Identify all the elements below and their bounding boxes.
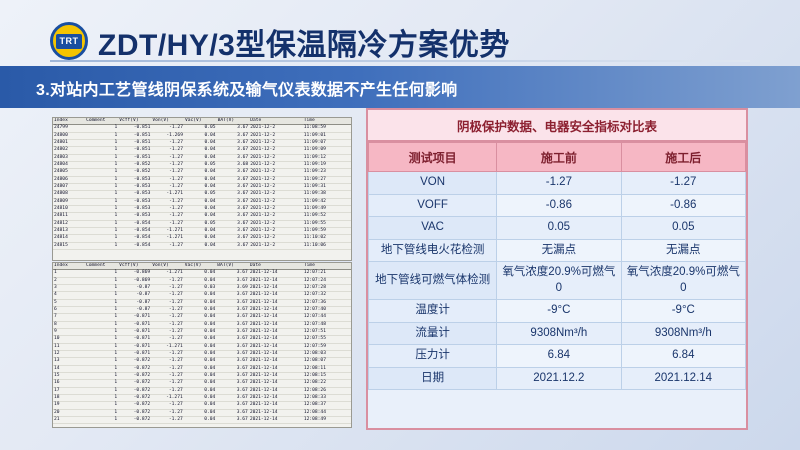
table-row: 81-0.871-1.270.043.672021-12-1412:07:48 bbox=[53, 321, 351, 328]
log-cell: -1.27 bbox=[151, 387, 184, 394]
log-cell: 12:07:24 bbox=[303, 277, 351, 284]
log-cell: 0.04 bbox=[184, 380, 217, 387]
log-cell: -1.27 bbox=[151, 292, 184, 299]
log-cell: 3.67 bbox=[216, 387, 249, 394]
log-column-header: Time bbox=[303, 118, 351, 125]
log-cell: 0.05 bbox=[184, 220, 217, 227]
log-cell: -0.871 bbox=[118, 328, 151, 335]
log-cell: 12:07:59 bbox=[303, 343, 351, 350]
log-table-head: IndexCommentVcff(V)Von(V)Vac(V)BAT(V)Dat… bbox=[53, 118, 351, 125]
log-cell: 0.04 bbox=[184, 387, 217, 394]
table-row: 248151-0.854-1.270.043.672021-12-211:10:… bbox=[53, 242, 351, 249]
log-cell: 1 bbox=[85, 227, 118, 234]
log-cell: 2021-12-14 bbox=[249, 394, 303, 401]
log-cell: 2021-12-14 bbox=[249, 299, 303, 306]
log-cell: 0.05 bbox=[184, 161, 217, 168]
log-column-header: Vcff(V) bbox=[118, 263, 151, 270]
log-cell: 0.04 bbox=[184, 132, 217, 139]
log-cell: -1.271 bbox=[151, 191, 184, 198]
log-cell: 11:09:07 bbox=[303, 139, 351, 146]
comparison-panel: 阴极保护数据、电器安全指标对比表 测试项目施工前施工后 VON-1.27-1.2… bbox=[366, 108, 748, 430]
log-cell: 0.04 bbox=[184, 372, 217, 379]
table-row: 31-0.87-1.270.033.692021-12-1412:07:28 bbox=[53, 284, 351, 291]
log-cell: 0.04 bbox=[184, 328, 217, 335]
log-cell: -0.872 bbox=[118, 358, 151, 365]
log-cell: 11:09:42 bbox=[303, 198, 351, 205]
log-cell: 2021-12-14 bbox=[249, 306, 303, 313]
log-cell: 12:08:07 bbox=[303, 358, 351, 365]
log-cell: 1 bbox=[85, 132, 118, 139]
log-cell: -0.851 bbox=[118, 125, 151, 132]
log-cell: 11:09:19 bbox=[303, 161, 351, 168]
log-table-head: IndexCommentVcff(V)Von(V)Vac(V)BAT(V)Dat… bbox=[53, 263, 351, 270]
log-cell: 0.04 bbox=[184, 213, 217, 220]
log-cell: -0.869 bbox=[118, 277, 151, 284]
log-cell: -1.27 bbox=[151, 220, 184, 227]
log-cell: 1 bbox=[85, 125, 118, 132]
log-column-header: BAT(V) bbox=[217, 118, 250, 125]
log-cell: 3.67 bbox=[217, 139, 250, 146]
table-row: 11-0.869-1.2710.043.672021-12-1412:07:21 bbox=[53, 270, 351, 277]
log-cell: 12:08:26 bbox=[303, 387, 351, 394]
log-cell: 1 bbox=[85, 416, 118, 423]
log-cell: 12:08:11 bbox=[303, 365, 351, 372]
log-cell: 11:10:02 bbox=[303, 235, 351, 242]
log-cell: 3.67 bbox=[217, 147, 250, 154]
log-cell: 12:08:44 bbox=[303, 409, 351, 416]
log-cell: 2021-12-2 bbox=[249, 242, 303, 249]
log-cell: -0.854 bbox=[118, 235, 151, 242]
log-cell: -1.27 bbox=[151, 299, 184, 306]
log-cell: 2021-12-14 bbox=[249, 328, 303, 335]
log-cell: -0.852 bbox=[118, 169, 151, 176]
table-row: 171-0.872-1.270.043.672021-12-1412:08:26 bbox=[53, 387, 351, 394]
log-cell: 1 bbox=[85, 169, 118, 176]
table-row: 41-0.87-1.270.043.672021-12-1412:07:32 bbox=[53, 292, 351, 299]
comparison-title: 阴极保护数据、电器安全指标对比表 bbox=[368, 110, 746, 142]
comparison-body: VON-1.27-1.27VOFF-0.86-0.86VAC0.050.05地下… bbox=[369, 172, 746, 390]
comparison-row-label: 地下管线电火花检测 bbox=[369, 239, 497, 262]
log-cell: 3.67 bbox=[217, 191, 250, 198]
log-cell: 2021-12-14 bbox=[249, 409, 303, 416]
log-cell: -0.872 bbox=[118, 380, 151, 387]
log-cell: -0.852 bbox=[118, 161, 151, 168]
log-table-body: 11-0.869-1.2710.043.672021-12-1412:07:21… bbox=[53, 270, 351, 424]
comparison-value-cell: -9°C bbox=[621, 300, 745, 323]
log-cell: -1.27 bbox=[151, 358, 184, 365]
comparison-row-label: VOFF bbox=[369, 194, 497, 217]
log-cell: -1.271 bbox=[151, 235, 184, 242]
log-cell: -0.872 bbox=[118, 387, 151, 394]
log-cell: 2021-12-14 bbox=[249, 321, 303, 328]
log-cell: -0.851 bbox=[118, 147, 151, 154]
log-cell: 3.67 bbox=[216, 372, 249, 379]
comparison-column-header: 施工前 bbox=[497, 143, 621, 172]
log-cell: 3.68 bbox=[217, 161, 250, 168]
log-cell: -0.872 bbox=[118, 402, 151, 409]
log-cell: 3.67 bbox=[216, 365, 249, 372]
log-cell: 1 bbox=[85, 183, 118, 190]
log-cell: 17 bbox=[53, 387, 85, 394]
log-cell: -1.27 bbox=[151, 183, 184, 190]
log-cell: 2021-12-14 bbox=[249, 372, 303, 379]
comparison-value-cell: 0.05 bbox=[621, 217, 745, 240]
log-cell: 18 bbox=[53, 394, 85, 401]
log-cell: 3.67 bbox=[217, 205, 250, 212]
log-cell: 12 bbox=[53, 350, 85, 357]
log-cell: 1 bbox=[85, 292, 118, 299]
log-cell: 3.67 bbox=[216, 416, 249, 423]
log-cell: 0.03 bbox=[184, 284, 217, 291]
log-cell: -1.27 bbox=[151, 365, 184, 372]
log-cell: 2021-12-14 bbox=[249, 365, 303, 372]
log-cell: 2021-12-2 bbox=[249, 154, 303, 161]
log-cell: 3.67 bbox=[216, 321, 249, 328]
log-cell: 1 bbox=[85, 306, 118, 313]
log-cell: 3.67 bbox=[216, 299, 249, 306]
comparison-value-cell: -0.86 bbox=[621, 194, 745, 217]
log-cell: -0.871 bbox=[118, 343, 151, 350]
comparison-head: 测试项目施工前施工后 bbox=[369, 143, 746, 172]
comparison-value-cell: 2021.12.2 bbox=[497, 367, 621, 390]
table-row: 161-0.872-1.270.043.672021-12-1412:08:22 bbox=[53, 380, 351, 387]
log-cell: 2021-12-2 bbox=[249, 147, 303, 154]
comparison-row-label: 地下管线可燃气体检测 bbox=[369, 262, 497, 300]
comparison-row-label: VON bbox=[369, 172, 497, 195]
table-row: 248121-0.854-1.270.053.672021-12-211:09:… bbox=[53, 220, 351, 227]
log-cell: 2021-12-2 bbox=[249, 139, 303, 146]
log-cell: 12:08:37 bbox=[303, 402, 351, 409]
log-cell: -0.872 bbox=[118, 409, 151, 416]
log-cell: 11:10:06 bbox=[303, 242, 351, 249]
log-cell: 1 bbox=[85, 242, 118, 249]
log-cell: 1 bbox=[85, 358, 118, 365]
log-cell: -1.27 bbox=[151, 161, 184, 168]
log-table-body: 247991-0.851-1.270.053.672021-12-211:08:… bbox=[53, 125, 351, 250]
log-cell: 6 bbox=[53, 306, 85, 313]
log-cell: -1.271 bbox=[151, 227, 184, 234]
log-cell: -0.87 bbox=[118, 306, 151, 313]
log-table: IndexCommentVcff(V)Von(V)Vac(V)BAT(V)Dat… bbox=[53, 118, 351, 250]
log-cell: 0.04 bbox=[184, 176, 217, 183]
log-cell: 3.67 bbox=[216, 314, 249, 321]
table-row: 流量计9308Nm³/h9308Nm³/h bbox=[369, 322, 746, 345]
log-cell: 1 bbox=[85, 270, 118, 277]
comparison-value-cell: 无漏点 bbox=[621, 239, 745, 262]
data-table-top: IndexCommentVcff(V)Von(V)Vac(V)BAT(V)Dat… bbox=[52, 117, 352, 261]
page-title: ZDT/HY/3型保温隔冷方案优势 bbox=[98, 20, 510, 64]
log-cell: 11:09:38 bbox=[303, 191, 351, 198]
log-cell: -1.27 bbox=[151, 147, 184, 154]
log-cell: 10 bbox=[53, 336, 85, 343]
log-cell: 3.67 bbox=[217, 220, 250, 227]
log-cell: 0.04 bbox=[184, 154, 217, 161]
log-cell: 2021-12-2 bbox=[249, 132, 303, 139]
log-cell: 3.67 bbox=[216, 306, 249, 313]
log-cell: 2021-12-14 bbox=[249, 292, 303, 299]
log-cell: 0.04 bbox=[184, 358, 217, 365]
comparison-header-row: 测试项目施工前施工后 bbox=[369, 143, 746, 172]
table-row: 地下管线可燃气体检测氧气浓度20.9%可燃气0氧气浓度20.9%可燃气0 bbox=[369, 262, 746, 300]
log-cell: 3 bbox=[53, 284, 85, 291]
logo-text: TRT bbox=[56, 34, 82, 49]
log-cell: 12:08:49 bbox=[303, 416, 351, 423]
log-cell: 0.04 bbox=[184, 235, 217, 242]
table-row: 247991-0.851-1.270.053.672021-12-211:08:… bbox=[53, 125, 351, 132]
log-cell: 0.04 bbox=[184, 227, 217, 234]
log-cell: -0.871 bbox=[118, 336, 151, 343]
log-cell: 11:09:01 bbox=[303, 132, 351, 139]
log-column-header: BAT(V) bbox=[216, 263, 249, 270]
table-row: 248131-0.854-1.2710.043.672021-12-211:09… bbox=[53, 227, 351, 234]
log-cell: -1.271 bbox=[151, 270, 184, 277]
table-row: 71-0.871-1.270.043.672021-12-1412:07:44 bbox=[53, 314, 351, 321]
log-cell: 0.04 bbox=[184, 409, 217, 416]
log-cell: 12:07:48 bbox=[303, 321, 351, 328]
log-column-header: Vcff(V) bbox=[118, 118, 151, 125]
log-cell: -1.27 bbox=[151, 402, 184, 409]
log-cell: 1 bbox=[85, 147, 118, 154]
log-cell: 0.04 bbox=[184, 270, 217, 277]
log-cell: -0.872 bbox=[118, 394, 151, 401]
table-row: 91-0.871-1.270.043.672021-12-1412:07:51 bbox=[53, 328, 351, 335]
log-cell: -1.27 bbox=[151, 125, 184, 132]
log-cell: 2021-12-14 bbox=[249, 314, 303, 321]
log-cell: 3.67 bbox=[216, 402, 249, 409]
log-cell: 12:08:03 bbox=[303, 350, 351, 357]
log-cell: 24805 bbox=[53, 169, 85, 176]
log-column-header: Vac(V) bbox=[184, 263, 217, 270]
log-column-header: Date bbox=[249, 263, 303, 270]
log-cell: 3.67 bbox=[216, 336, 249, 343]
log-cell: 11:09:59 bbox=[303, 227, 351, 234]
log-cell: -0.851 bbox=[118, 139, 151, 146]
log-cell: 3.67 bbox=[217, 213, 250, 220]
log-cell: 1 bbox=[85, 161, 118, 168]
table-row: 181-0.872-1.2710.043.672021-12-1412:08:3… bbox=[53, 394, 351, 401]
table-row: 248021-0.851-1.270.043.672021-12-211:09:… bbox=[53, 147, 351, 154]
log-column-header: Comment bbox=[85, 263, 118, 270]
log-cell: -1.27 bbox=[151, 284, 184, 291]
log-cell: 2021-12-14 bbox=[249, 387, 303, 394]
log-cell: 0.04 bbox=[184, 205, 217, 212]
log-cell: 1 bbox=[85, 372, 118, 379]
log-cell: 3.67 bbox=[216, 343, 249, 350]
log-cell: 12:08:33 bbox=[303, 394, 351, 401]
log-cell: 2021-12-2 bbox=[249, 169, 303, 176]
table-row: 248091-0.853-1.270.043.672021-12-211:09:… bbox=[53, 198, 351, 205]
table-row: 101-0.871-1.270.043.672021-12-1412:07:55 bbox=[53, 336, 351, 343]
table-row: VON-1.27-1.27 bbox=[369, 172, 746, 195]
log-cell: 24813 bbox=[53, 227, 85, 234]
log-cell: 0.04 bbox=[184, 147, 217, 154]
log-cell: 0.04 bbox=[184, 299, 217, 306]
comparison-value-cell: 6.84 bbox=[621, 345, 745, 368]
log-cell: 1 bbox=[85, 380, 118, 387]
log-cell: 0.04 bbox=[184, 365, 217, 372]
table-row: 141-0.872-1.270.043.672021-12-1412:08:11 bbox=[53, 365, 351, 372]
log-cell: -0.851 bbox=[118, 132, 151, 139]
comparison-value-cell: 9308Nm³/h bbox=[497, 322, 621, 345]
log-cell: 0.04 bbox=[184, 292, 217, 299]
log-header-row: IndexCommentVcff(V)Von(V)Vac(V)BAT(V)Dat… bbox=[53, 263, 351, 270]
log-column-header: Vac(V) bbox=[184, 118, 217, 125]
log-cell: 12:07:36 bbox=[303, 299, 351, 306]
log-cell: 3.67 bbox=[216, 270, 249, 277]
log-cell: -1.269 bbox=[151, 132, 184, 139]
table-row: 248111-0.853-1.270.043.672021-12-211:09:… bbox=[53, 213, 351, 220]
data-table-bottom: IndexCommentVcff(V)Von(V)Vac(V)BAT(V)Dat… bbox=[52, 262, 352, 428]
log-cell: 1 bbox=[85, 328, 118, 335]
log-cell: 1 bbox=[85, 409, 118, 416]
log-cell: 5 bbox=[53, 299, 85, 306]
log-cell: 1 bbox=[85, 205, 118, 212]
table-row: 61-0.87-1.270.043.672021-12-1412:07:40 bbox=[53, 306, 351, 313]
log-cell: -0.853 bbox=[118, 205, 151, 212]
log-cell: -1.27 bbox=[151, 350, 184, 357]
log-cell: 11:09:09 bbox=[303, 147, 351, 154]
log-cell: 24800 bbox=[53, 132, 85, 139]
log-cell: 2021-12-2 bbox=[249, 125, 303, 132]
log-cell: 0.04 bbox=[184, 394, 217, 401]
log-cell: 1 bbox=[85, 154, 118, 161]
log-cell: 24799 bbox=[53, 125, 85, 132]
table-row: 151-0.872-1.270.043.672021-12-1412:08:15 bbox=[53, 372, 351, 379]
log-cell: 3.67 bbox=[216, 409, 249, 416]
log-cell: 1 bbox=[85, 198, 118, 205]
log-column-header: Comment bbox=[85, 118, 118, 125]
slide-header: TRT ZDT/HY/3型保温隔冷方案优势 bbox=[0, 8, 800, 60]
log-cell: 0.04 bbox=[184, 416, 217, 423]
log-column-header: Date bbox=[249, 118, 303, 125]
log-cell: 0.04 bbox=[184, 306, 217, 313]
log-cell: 2021-12-2 bbox=[249, 205, 303, 212]
log-cell: -0.872 bbox=[118, 416, 151, 423]
table-row: 248041-0.852-1.270.053.682021-12-211:09:… bbox=[53, 161, 351, 168]
log-cell: -0.87 bbox=[118, 299, 151, 306]
log-cell: 1 bbox=[85, 176, 118, 183]
log-column-header: Index bbox=[53, 263, 85, 270]
log-cell: 1 bbox=[85, 402, 118, 409]
comparison-row-label: 流量计 bbox=[369, 322, 497, 345]
log-cell: -1.27 bbox=[151, 242, 184, 249]
log-cell: 1 bbox=[85, 336, 118, 343]
log-cell: 13 bbox=[53, 358, 85, 365]
log-cell: 0.04 bbox=[184, 277, 217, 284]
log-cell: 1 bbox=[85, 277, 118, 284]
log-column-header: Von(V) bbox=[151, 263, 184, 270]
log-cell: 1 bbox=[85, 220, 118, 227]
log-cell: 2021-12-2 bbox=[249, 220, 303, 227]
comparison-value-cell: -9°C bbox=[497, 300, 621, 323]
log-cell: 3.67 bbox=[216, 358, 249, 365]
comparison-value-cell: -1.27 bbox=[621, 172, 745, 195]
comparison-row-label: 温度计 bbox=[369, 300, 497, 323]
table-row: 248071-0.853-1.270.043.672021-12-211:09:… bbox=[53, 183, 351, 190]
log-cell: 7 bbox=[53, 314, 85, 321]
log-column-header: Index bbox=[53, 118, 85, 125]
log-cell: 15 bbox=[53, 372, 85, 379]
log-cell: 0.04 bbox=[184, 402, 217, 409]
log-cell: 3.67 bbox=[217, 169, 250, 176]
log-cell: -1.27 bbox=[151, 154, 184, 161]
log-cell: 2021-12-14 bbox=[249, 416, 303, 423]
log-cell: 2021-12-14 bbox=[249, 284, 303, 291]
log-cell: -1.27 bbox=[151, 205, 184, 212]
log-cell: 9 bbox=[53, 328, 85, 335]
log-cell: 24802 bbox=[53, 147, 85, 154]
log-cell: 1 bbox=[85, 191, 118, 198]
comparison-row-label: 日期 bbox=[369, 367, 497, 390]
log-cell: 3.67 bbox=[217, 235, 250, 242]
comparison-table: 测试项目施工前施工后 VON-1.27-1.27VOFF-0.86-0.86VA… bbox=[368, 142, 746, 390]
comparison-value-cell: 6.84 bbox=[497, 345, 621, 368]
log-cell: 1 bbox=[85, 394, 118, 401]
log-cell: 11:09:12 bbox=[303, 154, 351, 161]
table-row: 248101-0.853-1.270.043.672021-12-211:09:… bbox=[53, 205, 351, 212]
table-row: VAC0.050.05 bbox=[369, 217, 746, 240]
log-cell: -1.27 bbox=[151, 139, 184, 146]
log-cell: 19 bbox=[53, 402, 85, 409]
log-cell: 3.67 bbox=[217, 227, 250, 234]
log-cell: -1.27 bbox=[151, 306, 184, 313]
comparison-value-cell: 氧气浓度20.9%可燃气0 bbox=[497, 262, 621, 300]
table-row: VOFF-0.86-0.86 bbox=[369, 194, 746, 217]
log-cell: 2021-12-14 bbox=[249, 380, 303, 387]
comparison-value-cell: -1.27 bbox=[497, 172, 621, 195]
log-cell: 11:09:23 bbox=[303, 169, 351, 176]
table-row: 地下管线电火花检测无漏点无漏点 bbox=[369, 239, 746, 262]
log-cell: 24814 bbox=[53, 235, 85, 242]
log-cell: -0.854 bbox=[118, 242, 151, 249]
log-cell: 3.67 bbox=[217, 242, 250, 249]
log-cell: 4 bbox=[53, 292, 85, 299]
log-cell: 2021-12-14 bbox=[249, 350, 303, 357]
log-cell: 2021-12-2 bbox=[249, 161, 303, 168]
log-cell: 3.67 bbox=[217, 198, 250, 205]
comparison-column-header: 测试项目 bbox=[369, 143, 497, 172]
log-cell: 1 bbox=[85, 235, 118, 242]
log-column-header: Time bbox=[303, 263, 351, 270]
log-cell: 2021-12-14 bbox=[249, 402, 303, 409]
log-cell: 12:07:55 bbox=[303, 336, 351, 343]
log-cell: -1.27 bbox=[151, 169, 184, 176]
table-row: 248141-0.854-1.2710.043.672021-12-211:10… bbox=[53, 235, 351, 242]
log-cell: 1 bbox=[85, 350, 118, 357]
log-cell: -1.27 bbox=[151, 336, 184, 343]
log-cell: 1 bbox=[85, 314, 118, 321]
log-cell: 2021-12-2 bbox=[249, 198, 303, 205]
table-row: 121-0.871-1.270.043.672021-12-1412:08:03 bbox=[53, 350, 351, 357]
comparison-value-cell: -0.86 bbox=[497, 194, 621, 217]
log-cell: 24812 bbox=[53, 220, 85, 227]
log-cell: -0.871 bbox=[118, 314, 151, 321]
comparison-value-cell: 2021.12.14 bbox=[621, 367, 745, 390]
log-cell: 3.67 bbox=[217, 154, 250, 161]
log-cell: 0.04 bbox=[184, 198, 217, 205]
log-cell: -0.854 bbox=[118, 227, 151, 234]
company-logo: TRT bbox=[50, 22, 88, 60]
log-cell: 1 bbox=[85, 387, 118, 394]
log-cell: 2021-12-2 bbox=[249, 183, 303, 190]
log-cell: 2021-12-14 bbox=[249, 336, 303, 343]
log-cell: 16 bbox=[53, 380, 85, 387]
log-cell: 11:08:59 bbox=[303, 125, 351, 132]
comparison-value-cell: 无漏点 bbox=[497, 239, 621, 262]
log-cell: 3.67 bbox=[216, 394, 249, 401]
log-cell: -0.87 bbox=[118, 292, 151, 299]
comparison-row-label: 压力计 bbox=[369, 345, 497, 368]
